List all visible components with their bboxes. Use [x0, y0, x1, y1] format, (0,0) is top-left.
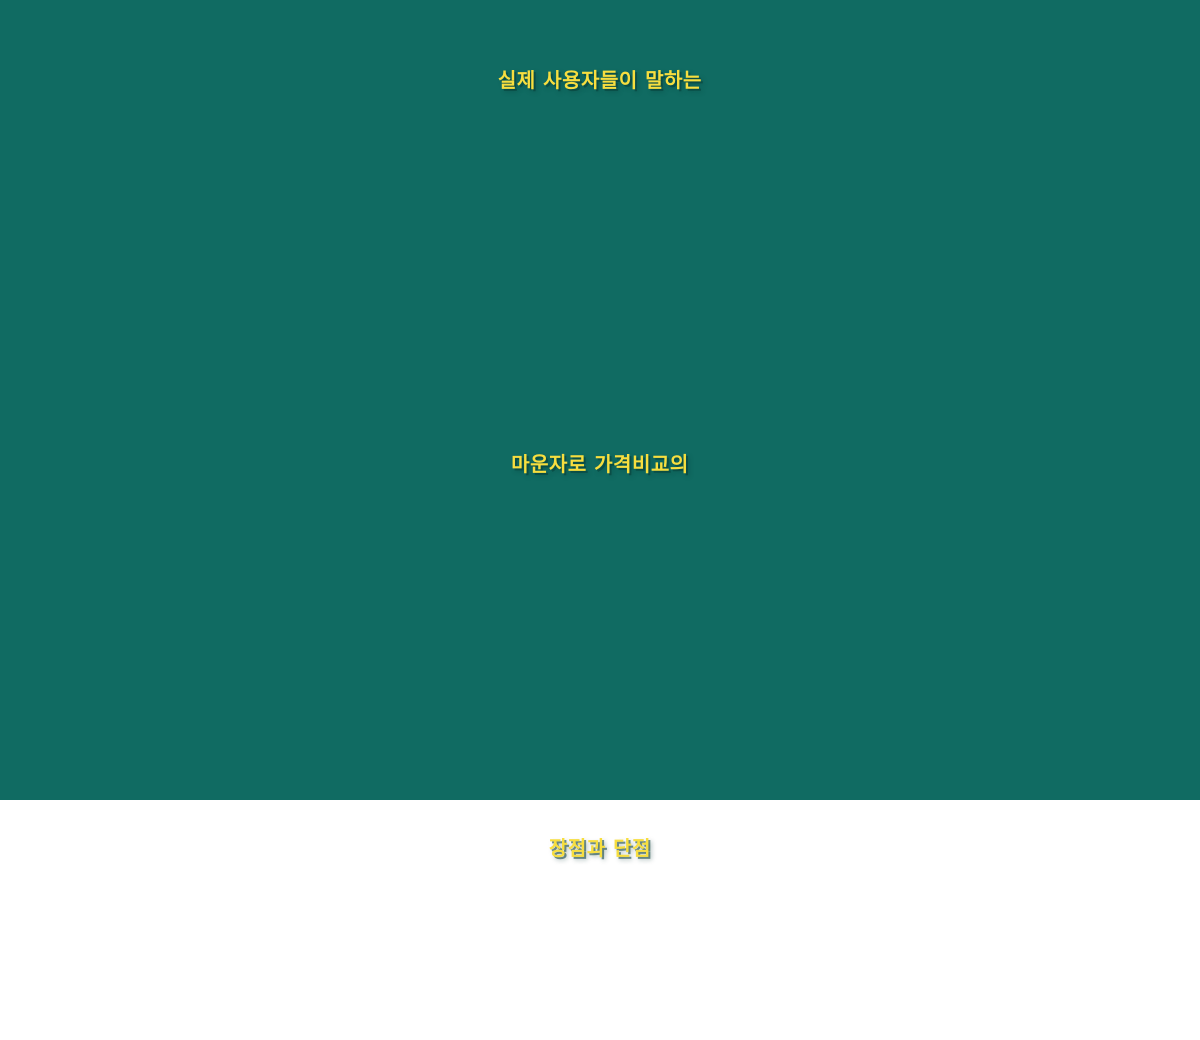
headline-line-1: 실제 사용자들이 말하는 [40, 16, 1160, 144]
headline-line-3: 장점과 단점 [40, 784, 1160, 912]
headline-line-2: 마운자로 가격비교의 [40, 400, 1160, 528]
title-card-canvas: 실제 사용자들이 말하는 마운자로 가격비교의 장점과 단점 [0, 0, 1200, 800]
headline-text-block: 실제 사용자들이 말하는 마운자로 가격비교의 장점과 단점 [40, 0, 1160, 1040]
